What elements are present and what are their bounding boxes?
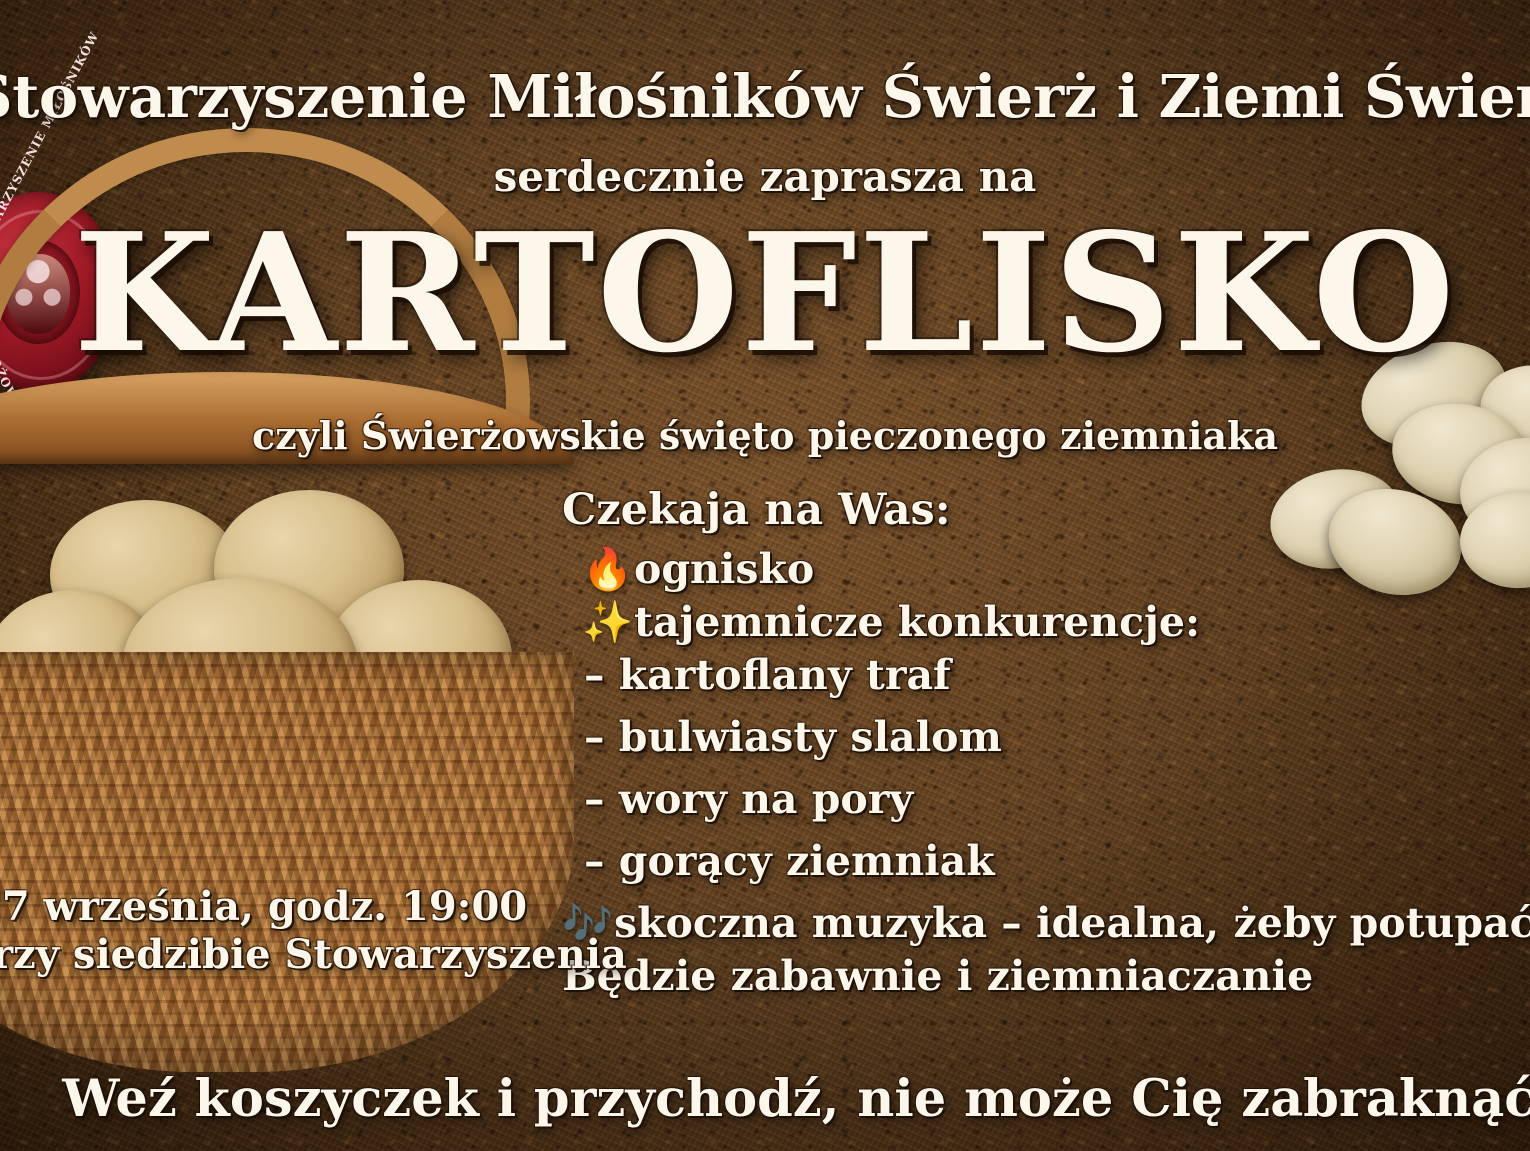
sparkles-emoji: ✨ <box>582 598 634 647</box>
event-title: KARTOFLISKO <box>0 212 1530 375</box>
program-item-label: tajemnicze konkurencje: <box>634 598 1200 646</box>
poster-canvas: STOWARZYSZENIE MIŁOŚNIKÓW ŚWIERŻOWSKIEJ … <box>0 0 1530 1151</box>
program-item-label: skoczna muzyka – idealna, żeby potupać! <box>614 899 1530 947</box>
organization-name: Stowarzyszenie Miłośników Świerż i Ziemi… <box>0 62 1530 131</box>
contest-item: – kartoflany traf <box>562 651 1530 699</box>
basket-weave-texture <box>0 652 574 1072</box>
program-list: Czekaja na Was: 🔥ognisko ✨tajemnicze kon… <box>562 485 1530 1004</box>
program-item-konkurencje: ✨tajemnicze konkurencje: <box>562 598 1530 647</box>
event-date: 27 września, godz. 19:00 <box>0 883 444 930</box>
event-subtitle: czyli Świerżowskie święto pieczonego zie… <box>0 413 1530 458</box>
program-heading: Czekaja na Was: <box>562 485 1530 535</box>
contest-item: – gorący ziemniak <box>562 837 1530 885</box>
contest-item: – bulwiasty slalom <box>562 713 1530 761</box>
invitation-line: serdecznie zaprasza na <box>0 152 1530 201</box>
fire-emoji: 🔥 <box>582 545 634 594</box>
program-item-muzyka: 🎶skoczna muzyka – idealna, żeby potupać! <box>562 899 1530 948</box>
program-item-ognisko: 🔥ognisko <box>562 545 1530 594</box>
program-item-label: ognisko <box>634 545 814 593</box>
contest-item: – wory na pory <box>562 775 1530 823</box>
event-place: przy siedzibie Stowarzyszenia <box>0 931 434 978</box>
basket-body <box>0 652 574 1072</box>
program-footer-line: Będzie zabawnie i ziemniaczanie <box>562 952 1530 1000</box>
closing-call-to-action: Weź koszyczek i przychodź, nie może Cię … <box>0 1069 1530 1129</box>
